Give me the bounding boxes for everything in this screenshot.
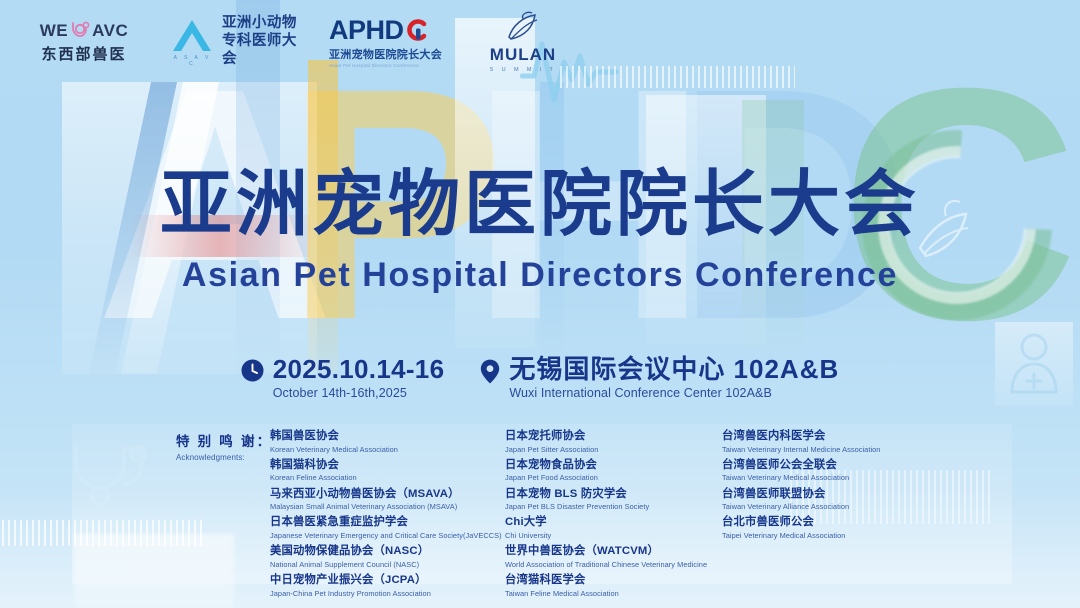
event-venue-sub: Wuxi International Conference Center 102… (509, 386, 839, 400)
asavc-cn-line2: 专科医师大会 (222, 33, 305, 69)
event-meta: 2025.10.14-16 October 14th-16th,2025 无锡国… (0, 356, 1080, 400)
event-venue-text: 无锡国际会议中心 102A&B Wuxi International Confe… (509, 356, 839, 400)
list-item: 日本兽医紧急重症监护学会 Japanese Veterinary Emergen… (270, 516, 500, 540)
ack-item-cn: 马来西亚小动物兽医协会（MSAVA） (270, 488, 500, 502)
asavc-mark-wrap: A S A V C (170, 17, 215, 67)
asavc-sub-label: A S A V C (170, 55, 215, 67)
ack-item-cn: 日本兽医紧急重症监护学会 (270, 516, 500, 530)
list-item: 台北市兽医师公会 Taipei Veterinary Medical Assoc… (722, 516, 972, 540)
event-venue-group: 无锡国际会议中心 102A&B Wuxi International Confe… (480, 356, 839, 400)
wsavc-wordmark: WE AVC (40, 20, 129, 40)
ack-column-1: 韩国兽医协会 Korean Veterinary Medical Associa… (270, 430, 500, 603)
wsavc-avc: AVC (92, 22, 128, 39)
aphdc-cn-label: 亚洲宠物医院院长大会 (329, 46, 442, 62)
ack-item-cn: 台湾兽医师公会全联会 (722, 459, 972, 473)
ack-item-en: Japan-China Pet Industry Promotion Assoc… (270, 589, 500, 598)
ack-item-cn: 韩国猫科协会 (270, 459, 500, 473)
wsavc-we: WE (40, 22, 68, 39)
aphdc-en-label: Asian Pet Hospital Directors Conference (329, 63, 419, 68)
event-date-text: 2025.10.14-16 October 14th-16th,2025 (273, 356, 445, 400)
wsavc-cn-label: 东西部兽医 (41, 43, 126, 64)
acknowledgments: 特 别 鸣 谢： Acknowledgments: 韩国兽医协会 Korean … (0, 430, 1080, 603)
ack-item-en: Japanese Veterinary Emergency and Critic… (270, 531, 500, 540)
page-title-en: Asian Pet Hospital Directors Conference (0, 258, 1080, 292)
list-item: 韩国兽医协会 Korean Veterinary Medical Associa… (270, 430, 500, 454)
page-title-cn: 亚洲宠物医院院长大会 (0, 168, 1080, 240)
ack-item-en: Korean Veterinary Medical Association (270, 445, 500, 454)
logo-mulan[interactable]: MULAN S U M M I T (475, 11, 571, 73)
ack-item-cn: 美国动物保健品协会（NASC） (270, 545, 500, 559)
ack-column-2: 日本宠托师协会 Japan Pet Sitter Association 日本宠… (505, 430, 720, 603)
ack-item-cn: 台北市兽医师公会 (722, 516, 972, 530)
asavc-cn-wrap: 亚洲小动物 专科医师大会 (222, 15, 305, 69)
list-item: 中日宠物产业振兴会（JCPA） Japan-China Pet Industry… (270, 574, 500, 598)
list-item: 日本宠物 BLS 防灾学会 Japan Pet BLS Disaster Pre… (505, 488, 720, 512)
list-item: 美国动物保健品协会（NASC） National Animal Suppleme… (270, 545, 500, 569)
ack-item-en: Taipei Veterinary Medical Association (722, 531, 972, 540)
ack-item-cn: 世界中兽医协会（WATCVM） (505, 545, 720, 559)
list-item: 台湾猫科医学会 Taiwan Feline Medical Associatio… (505, 574, 720, 598)
ack-item-cn: 日本宠托师协会 (505, 430, 720, 444)
asavc-cn-line1: 亚洲小动物 (222, 15, 305, 33)
mulan-sub-label: S U M M I T (490, 67, 557, 73)
logo-bar: WE AVC 东西部兽医 A S A V C 亚洲小动物 专科医师大会 (0, 0, 1080, 84)
ack-item-cn: 韩国兽医协会 (270, 430, 500, 444)
location-pin-icon (480, 359, 500, 384)
list-item: 日本宠物食品协会 Japan Pet Food Association (505, 459, 720, 483)
list-item: 世界中兽医协会（WATCVM） World Association of Tra… (505, 545, 720, 569)
logo-asavc[interactable]: A S A V C 亚洲小动物 专科医师大会 (170, 15, 305, 69)
ack-item-en: Taiwan Veterinary Medical Association (722, 473, 972, 482)
event-venue-main: 无锡国际会议中心 102A&B (509, 356, 839, 383)
poster-canvas: A P H D C (0, 0, 1080, 608)
list-item: 马来西亚小动物兽医协会（MSAVA） Malaysian Small Anima… (270, 488, 500, 512)
event-date-sub: October 14th-16th,2025 (273, 386, 445, 400)
list-item: 日本宠托师协会 Japan Pet Sitter Association (505, 430, 720, 454)
aphdc-wordmark: APHD (329, 17, 427, 44)
ack-item-en: Japan Pet Food Association (505, 473, 720, 482)
ack-heading-en: Acknowledgments: (176, 453, 260, 462)
stethoscope-icon (69, 20, 91, 40)
ack-item-cn: 日本宠物 BLS 防灾学会 (505, 488, 720, 502)
ack-item-en: Taiwan Veterinary Internal Medicine Asso… (722, 445, 972, 454)
aphdc-c-mark-icon (405, 18, 427, 42)
ack-item-cn: 台湾兽医内科医学会 (722, 430, 972, 444)
ack-item-cn: 中日宠物产业振兴会（JCPA） (270, 574, 500, 588)
ack-item-en: National Animal Supplement Council (NASC… (270, 560, 500, 569)
logo-aphdc[interactable]: APHD 亚洲宠物医院院长大会 Asian Pet Hospital Direc… (329, 17, 449, 68)
ack-item-cn: 台湾兽医师联盟协会 (722, 488, 972, 502)
ack-item-en: Korean Feline Association (270, 473, 500, 482)
ack-item-en: Taiwan Veterinary Alliance Association (722, 502, 972, 511)
list-item: 台湾兽医师联盟协会 Taiwan Veterinary Alliance Ass… (722, 488, 972, 512)
ack-item-cn: Chi大学 (505, 516, 720, 530)
list-item: 韩国猫科协会 Korean Feline Association (270, 459, 500, 483)
ack-item-en: Japan Pet Sitter Association (505, 445, 720, 454)
ack-heading-cn: 特 别 鸣 谢： (176, 430, 260, 450)
ack-item-en: World Association of Traditional Chinese… (505, 560, 720, 569)
event-date-group: 2025.10.14-16 October 14th-16th,2025 (241, 356, 445, 400)
list-item: Chi大学 Chi University (505, 516, 720, 540)
clock-icon (241, 359, 264, 382)
logo-wsavc[interactable]: WE AVC 东西部兽医 (30, 20, 138, 64)
list-item: 台湾兽医师公会全联会 Taiwan Veterinary Medical Ass… (722, 459, 972, 483)
aphdc-main-text: APHD (329, 17, 404, 44)
ack-item-en: Taiwan Feline Medical Association (505, 589, 720, 598)
magnolia-flower-icon (501, 11, 545, 43)
chevron-up-mark-icon (170, 17, 214, 53)
ack-item-en: Chi University (505, 531, 720, 540)
list-item: 台湾兽医内科医学会 Taiwan Veterinary Internal Med… (722, 430, 972, 454)
ack-item-cn: 台湾猫科医学会 (505, 574, 720, 588)
headline: 亚洲宠物医院院长大会 Asian Pet Hospital Directors … (0, 168, 1080, 292)
ack-item-en: Malaysian Small Animal Veterinary Associ… (270, 502, 500, 511)
ack-column-3: 台湾兽医内科医学会 Taiwan Veterinary Internal Med… (722, 430, 972, 603)
ack-item-cn: 日本宠物食品协会 (505, 459, 720, 473)
ack-item-en: Japan Pet BLS Disaster Prevention Societ… (505, 502, 720, 511)
acknowledgments-heading: 特 别 鸣 谢： Acknowledgments: (176, 430, 260, 603)
mulan-wordmark: MULAN (490, 45, 556, 65)
event-date-main: 2025.10.14-16 (273, 356, 445, 383)
